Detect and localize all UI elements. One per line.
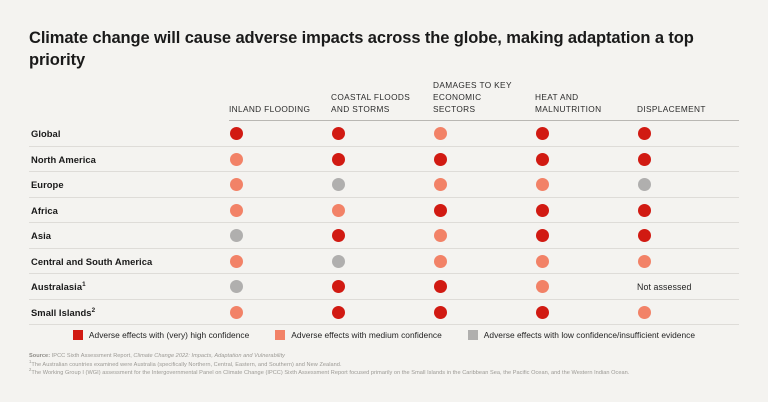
impact-cell <box>535 299 637 325</box>
impact-dot-high <box>434 153 447 166</box>
impact-dot-high <box>434 306 447 319</box>
impact-cell <box>535 172 637 198</box>
impact-cell <box>433 172 535 198</box>
impact-dot-medium <box>230 306 243 319</box>
region-name: North America <box>31 154 96 165</box>
impact-dot-medium <box>638 255 651 268</box>
impact-dot-high <box>434 280 447 293</box>
impact-cell <box>535 223 637 249</box>
legend-item-low: Adverse effects with low confidence/insu… <box>468 330 695 340</box>
impact-dot-high <box>536 204 549 217</box>
impact-dot-high <box>536 306 549 319</box>
table-row: Small Islands2 <box>29 299 739 325</box>
footnote-source: Source: IPCC Sixth Assessment Report, Cl… <box>29 352 745 361</box>
table-row: Asia <box>29 223 739 249</box>
table-header: INLAND FLOODING COASTAL FLOODS AND STORM… <box>29 80 739 121</box>
source-label: Source: <box>29 353 50 359</box>
region-label: Central and South America <box>29 248 229 274</box>
impact-cell <box>229 274 331 300</box>
region-label: Africa <box>29 197 229 223</box>
column-header-region <box>29 80 229 121</box>
column-header-displacement: DISPLACEMENT <box>637 80 739 121</box>
impact-cell <box>433 197 535 223</box>
impact-cell <box>637 121 739 147</box>
legend-label: Adverse effects with medium confidence <box>291 330 442 340</box>
impact-dot-low <box>230 280 243 293</box>
table-row: Australasia1Not assessed <box>29 274 739 300</box>
impact-cell <box>331 223 433 249</box>
impact-cell <box>535 274 637 300</box>
impact-cell <box>433 121 535 147</box>
impact-dot-high <box>536 127 549 140</box>
impact-cell <box>535 248 637 274</box>
impact-dot-medium <box>434 255 447 268</box>
impact-cell <box>229 248 331 274</box>
legend-item-high: Adverse effects with (very) high confide… <box>73 330 249 340</box>
impact-dot-medium <box>434 127 447 140</box>
table-header-row: INLAND FLOODING COASTAL FLOODS AND STORM… <box>29 80 739 121</box>
impact-dot-high <box>638 127 651 140</box>
region-label: Small Islands2 <box>29 299 229 325</box>
legend-swatch-high-icon <box>73 330 83 340</box>
table-row: Central and South America <box>29 248 739 274</box>
impact-dot-high <box>332 280 345 293</box>
footnote-1: 1The Australian countries examined were … <box>29 361 745 370</box>
not-assessed-label: Not assessed <box>637 282 739 292</box>
impact-dot-medium <box>230 204 243 217</box>
impact-dot-medium <box>536 280 549 293</box>
impact-cell <box>331 121 433 147</box>
source-text: IPCC Sixth Assessment Report, <box>50 353 133 359</box>
region-name: Australasia <box>31 281 82 292</box>
column-header-damages-to-key-economic-sectors: DAMAGES TO KEY ECONOMIC SECTORS <box>433 80 535 121</box>
legend-label: Adverse effects with (very) high confide… <box>89 330 249 340</box>
region-name: Africa <box>31 205 58 216</box>
impact-dot-high <box>536 229 549 242</box>
impact-cell <box>637 197 739 223</box>
legend-item-medium: Adverse effects with medium confidence <box>275 330 442 340</box>
impact-table: INLAND FLOODING COASTAL FLOODS AND STORM… <box>29 80 739 325</box>
impact-dot-low <box>332 255 345 268</box>
impact-cell <box>637 299 739 325</box>
impact-dot-high <box>638 229 651 242</box>
region-name: Europe <box>31 179 64 190</box>
impact-dot-low <box>332 178 345 191</box>
impact-cell <box>331 274 433 300</box>
region-label: Asia <box>29 223 229 249</box>
footnote-1-text: The Australian countries examined were A… <box>31 362 341 368</box>
column-header-inland-flooding: INLAND FLOODING <box>229 80 331 121</box>
legend: Adverse effects with (very) high confide… <box>29 330 739 340</box>
legend-swatch-low-icon <box>468 330 478 340</box>
impact-dot-high <box>230 127 243 140</box>
impact-dot-medium <box>434 178 447 191</box>
impact-cell <box>229 146 331 172</box>
region-label: Europe <box>29 172 229 198</box>
region-footnote-marker: 1 <box>82 281 86 288</box>
impact-dot-high <box>332 306 345 319</box>
impact-cell <box>331 172 433 198</box>
table-row: Global <box>29 121 739 147</box>
region-name: Central and South America <box>31 256 152 267</box>
footnote-2: 2The Working Group I (WGI) assessment fo… <box>29 369 745 378</box>
impact-dot-low <box>638 178 651 191</box>
impact-cell <box>637 223 739 249</box>
footnotes: Source: IPCC Sixth Assessment Report, Cl… <box>29 352 745 378</box>
impact-dot-high <box>332 153 345 166</box>
impact-dot-medium <box>230 153 243 166</box>
impact-matrix: INLAND FLOODING COASTAL FLOODS AND STORM… <box>29 80 739 325</box>
impact-dot-low <box>230 229 243 242</box>
impact-cell <box>535 146 637 172</box>
impact-dot-medium <box>230 178 243 191</box>
impact-dot-medium <box>536 255 549 268</box>
impact-dot-medium <box>434 229 447 242</box>
region-name: Global <box>31 128 60 139</box>
impact-cell <box>229 299 331 325</box>
impact-dot-high <box>434 204 447 217</box>
page-title: Climate change will cause adverse impact… <box>29 28 739 72</box>
region-label: North America <box>29 146 229 172</box>
column-header-coastal-floods-and-storms: COASTAL FLOODS AND STORMS <box>331 80 433 121</box>
impact-cell <box>637 172 739 198</box>
impact-cell <box>433 146 535 172</box>
impact-dot-high <box>332 229 345 242</box>
region-name: Asia <box>31 230 51 241</box>
region-label: Australasia1 <box>29 274 229 300</box>
legend-label: Adverse effects with low confidence/insu… <box>484 330 695 340</box>
impact-cell <box>433 248 535 274</box>
impact-cell <box>637 248 739 274</box>
impact-cell <box>331 248 433 274</box>
region-label: Global <box>29 121 229 147</box>
impact-dot-high <box>638 204 651 217</box>
impact-dot-high <box>332 127 345 140</box>
impact-cell <box>637 146 739 172</box>
table-body: GlobalNorth AmericaEuropeAfricaAsiaCentr… <box>29 121 739 325</box>
column-header-heat-and-malnutrition: HEAT AND MALNUTRITION <box>535 80 637 121</box>
impact-dot-high <box>638 153 651 166</box>
impact-cell: Not assessed <box>637 274 739 300</box>
impact-cell <box>433 274 535 300</box>
table-row: Europe <box>29 172 739 198</box>
impact-cell <box>331 299 433 325</box>
impact-cell <box>535 121 637 147</box>
infographic-page: Climate change will cause adverse impact… <box>0 0 768 402</box>
impact-dot-medium <box>230 255 243 268</box>
footnote-2-text: The Working Group I (WGI) assessment for… <box>31 370 629 376</box>
source-title: Climate Change 2022: Impacts, Adaptation… <box>133 353 285 359</box>
impact-dot-medium <box>332 204 345 217</box>
impact-cell <box>229 197 331 223</box>
table-row: North America <box>29 146 739 172</box>
impact-dot-medium <box>638 306 651 319</box>
impact-dot-medium <box>536 178 549 191</box>
region-footnote-marker: 2 <box>92 306 96 313</box>
impact-cell <box>433 223 535 249</box>
legend-swatch-medium-icon <box>275 330 285 340</box>
impact-cell <box>229 172 331 198</box>
region-name: Small Islands <box>31 307 92 318</box>
impact-dot-high <box>536 153 549 166</box>
impact-cell <box>331 197 433 223</box>
impact-cell <box>433 299 535 325</box>
table-row: Africa <box>29 197 739 223</box>
impact-cell <box>229 121 331 147</box>
impact-cell <box>229 223 331 249</box>
impact-cell <box>331 146 433 172</box>
impact-cell <box>535 197 637 223</box>
